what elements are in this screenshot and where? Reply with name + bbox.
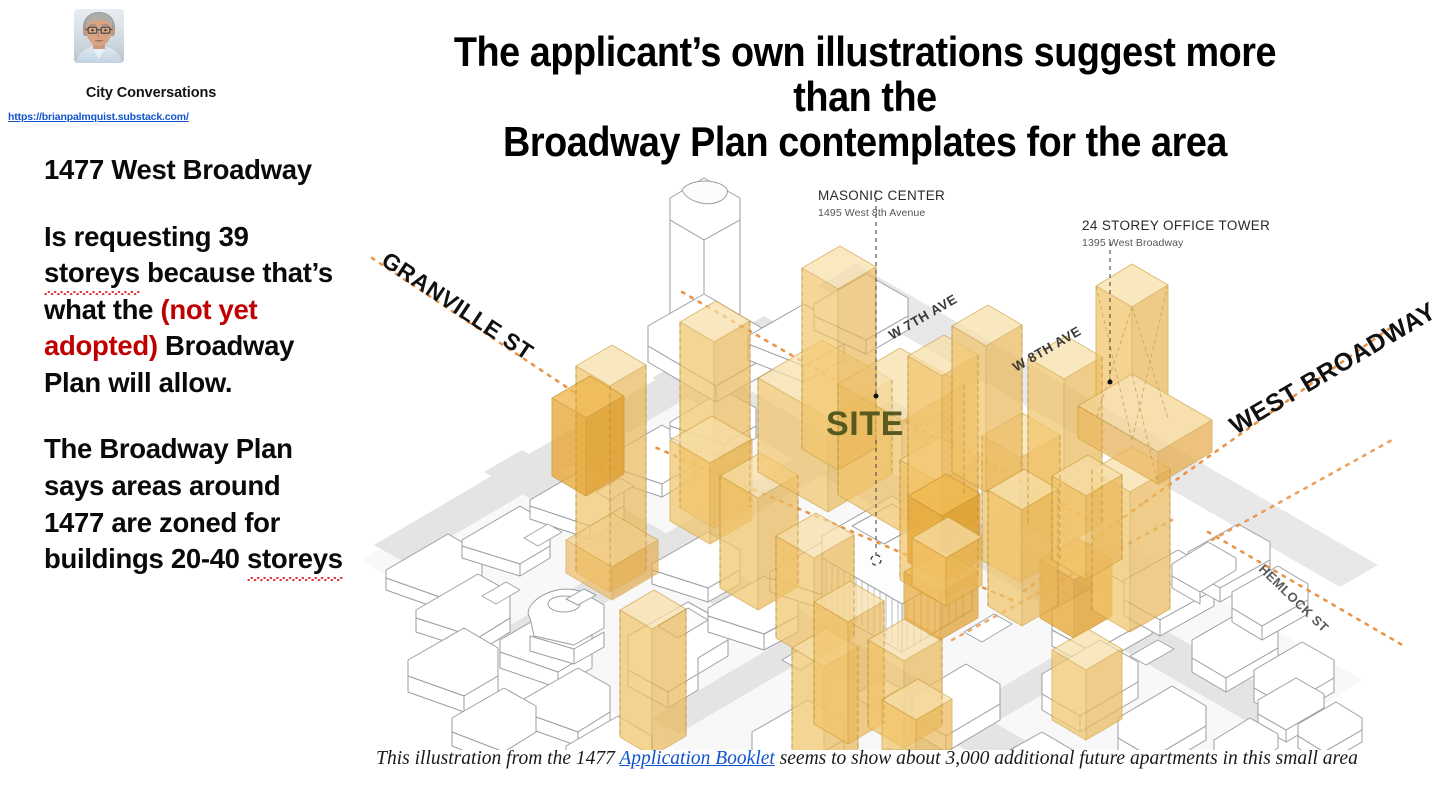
annotation-masonic-center: MASONIC CENTER 1495 West 8th Avenue bbox=[818, 188, 945, 219]
body-paragraph-zoning: The Broadway Plan says areas around 1477… bbox=[44, 431, 344, 577]
para2-misspelled-storeys: storeys bbox=[44, 255, 140, 292]
street-label-west-broadway: WEST BROADWAY bbox=[1225, 297, 1441, 440]
caption-after-link: seems to show about 3,000 additional fut… bbox=[775, 748, 1358, 769]
proposed-tower bbox=[1052, 455, 1122, 580]
person-avatar-photo-icon bbox=[74, 9, 124, 63]
figure-caption: This illustration from the 1477 Applicat… bbox=[352, 748, 1382, 770]
body-heading: 1477 West Broadway bbox=[44, 152, 344, 189]
masonic-center-title: MASONIC CENTER bbox=[818, 188, 945, 203]
masonic-leader-dot bbox=[874, 394, 879, 399]
proposed-tower bbox=[552, 376, 624, 496]
massing-diagram-svg: SITE MASONIC CENTER 1495 West 8th Avenue… bbox=[352, 140, 1456, 750]
brand-url-link[interactable]: https://brianpalmquist.substack.com/ bbox=[8, 111, 189, 123]
proposed-tower bbox=[1052, 629, 1122, 740]
massing-diagram: SITE MASONIC CENTER 1495 West 8th Avenue… bbox=[352, 140, 1456, 750]
site-label: SITE bbox=[826, 405, 904, 443]
caption-before-link: This illustration from the 1477 bbox=[376, 748, 619, 769]
brand-name: City Conversations bbox=[26, 85, 276, 101]
page-title-line-1: The applicant’s own illustrations sugges… bbox=[454, 28, 1276, 120]
masonic-center-subtitle: 1495 West 8th Avenue bbox=[818, 207, 925, 219]
application-booklet-link[interactable]: Application Booklet bbox=[619, 748, 774, 769]
proposed-tower bbox=[620, 590, 686, 750]
para2-seg1: Is requesting 39 bbox=[44, 221, 249, 252]
avatar bbox=[74, 9, 124, 63]
annotation-office-tower: 24 STOREY OFFICE TOWER 1395 West Broadwa… bbox=[1082, 218, 1270, 249]
proposed-tower bbox=[952, 305, 1022, 492]
body-heading-text: 1477 West Broadway bbox=[44, 154, 312, 185]
office-tower-title: 24 STOREY OFFICE TOWER bbox=[1082, 218, 1270, 233]
street-label-granville-st: GRANVILLE ST bbox=[377, 246, 538, 365]
proposed-tower bbox=[988, 469, 1058, 626]
office-tower-leader-dot bbox=[1108, 380, 1113, 385]
body-copy: 1477 West Broadway Is requesting 39 stor… bbox=[44, 152, 344, 578]
office-tower-subtitle: 1395 West Broadway bbox=[1082, 237, 1184, 249]
para3-misspelled-storeys: storeys bbox=[247, 541, 343, 578]
body-paragraph-requesting: Is requesting 39 storeys because that’s … bbox=[44, 219, 344, 402]
